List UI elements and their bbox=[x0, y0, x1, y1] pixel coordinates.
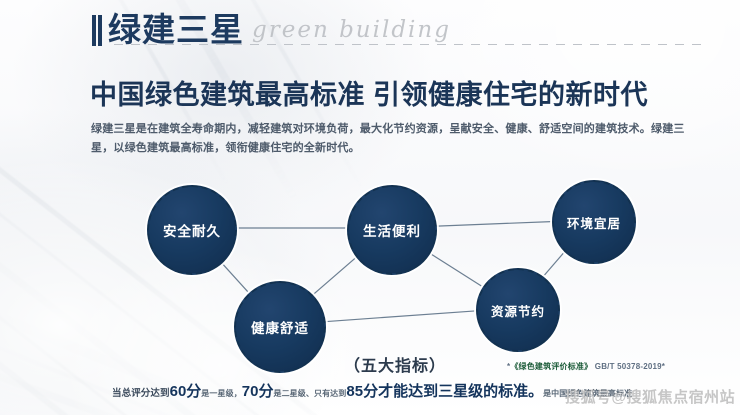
diagram-node-environment[interactable]: 环境宜居 bbox=[552, 180, 636, 264]
connector-line bbox=[312, 257, 357, 296]
brand-subtitle-en: green building bbox=[252, 17, 451, 43]
header: green building 绿建三星 bbox=[92, 8, 708, 56]
diagram-node-label: 安全耐久 bbox=[163, 220, 221, 240]
footnote-part-1: 当总评分达到 bbox=[112, 388, 170, 399]
source-watermark: 搜狐号@搜狐焦点宿州站 bbox=[565, 386, 735, 407]
page-lede: 绿建三星是在建筑全寿命期内，减轻建筑对环境负荷，最大化节约资源，呈献安全、健康、… bbox=[91, 120, 703, 158]
standard-reference-note: *《绿色建筑评价标准》 GB/T 50378-2019* bbox=[507, 361, 665, 372]
brand-title-cn: 绿建三星 bbox=[108, 8, 244, 52]
connector-line bbox=[220, 261, 248, 292]
page-headline: 中国绿色建筑最高标准 引领健康住宅的新时代 bbox=[90, 79, 648, 111]
footnote-part-2: 是一星级， bbox=[201, 389, 242, 398]
diagram-node-label: 环境宜居 bbox=[567, 213, 621, 232]
diagram-node-resource[interactable]: 资源节约 bbox=[476, 268, 560, 352]
diagram-node-health[interactable]: 健康舒适 bbox=[234, 281, 326, 373]
connector-line bbox=[434, 222, 551, 227]
footnote-part-3: 是二星级、只有达到 bbox=[273, 389, 346, 398]
standard-note-title: 《绿色建筑评价标准》 bbox=[510, 362, 592, 371]
diagram-node-label: 健康舒适 bbox=[251, 317, 309, 337]
footnote-score-85: 85分才能达到三星级的标准。 bbox=[346, 383, 543, 400]
title-accent-bars bbox=[92, 15, 102, 46]
diagram-node-label: 生活便利 bbox=[363, 220, 421, 240]
footnote-score-70: 70分 bbox=[242, 383, 274, 400]
diagram-node-safety[interactable]: 安全耐久 bbox=[147, 185, 237, 275]
standard-note-code: GB/T 50378-2019* bbox=[595, 362, 665, 371]
diagram-node-convenience[interactable]: 生活便利 bbox=[347, 185, 437, 275]
slide-root: green building 绿建三星 中国绿色建筑最高标准 引领健康住宅的新时… bbox=[0, 0, 740, 415]
diagram-node-label: 资源节约 bbox=[491, 301, 545, 320]
connector-line bbox=[323, 311, 475, 322]
footnote-score-60: 60分 bbox=[170, 383, 202, 400]
connector-line bbox=[543, 251, 565, 277]
diagram-caption: （五大指标） bbox=[344, 352, 446, 376]
connector-line bbox=[427, 252, 481, 286]
